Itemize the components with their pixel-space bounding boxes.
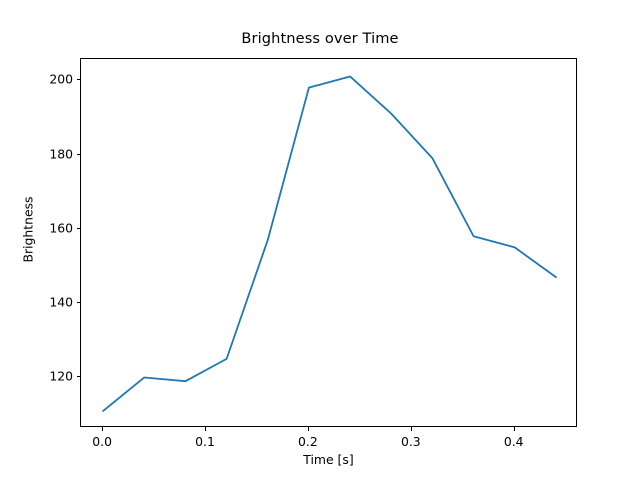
chart-figure: Brightness over Time 0.00.10.20.30.4 120…	[0, 0, 640, 480]
y-tick-label: 140	[32, 295, 73, 310]
plot-area	[80, 58, 577, 427]
y-tick-label: 120	[32, 369, 73, 384]
page-title: Brightness over Time	[0, 30, 640, 47]
x-tick-label: 0.0	[92, 434, 112, 449]
y-tick-mark	[77, 376, 81, 377]
x-tick-mark	[102, 427, 103, 431]
x-tick-label: 0.2	[298, 434, 318, 449]
x-tick-mark	[411, 427, 412, 431]
y-tick-label: 160	[32, 220, 73, 235]
y-tick-label: 200	[32, 72, 73, 87]
brightness-line	[103, 76, 556, 410]
line-series-svg	[81, 59, 578, 428]
y-tick-mark	[77, 228, 81, 229]
x-tick-mark	[205, 427, 206, 431]
x-tick-label: 0.4	[504, 434, 524, 449]
x-tick-mark	[514, 427, 515, 431]
y-tick-mark	[77, 154, 81, 155]
x-tick-label: 0.3	[401, 434, 421, 449]
y-tick-mark	[77, 79, 81, 80]
x-axis-label: Time [s]	[80, 452, 577, 467]
y-axis-label: Brightness	[21, 80, 36, 380]
y-tick-label: 180	[32, 146, 73, 161]
y-tick-mark	[77, 302, 81, 303]
x-tick-mark	[308, 427, 309, 431]
x-tick-label: 0.1	[195, 434, 215, 449]
